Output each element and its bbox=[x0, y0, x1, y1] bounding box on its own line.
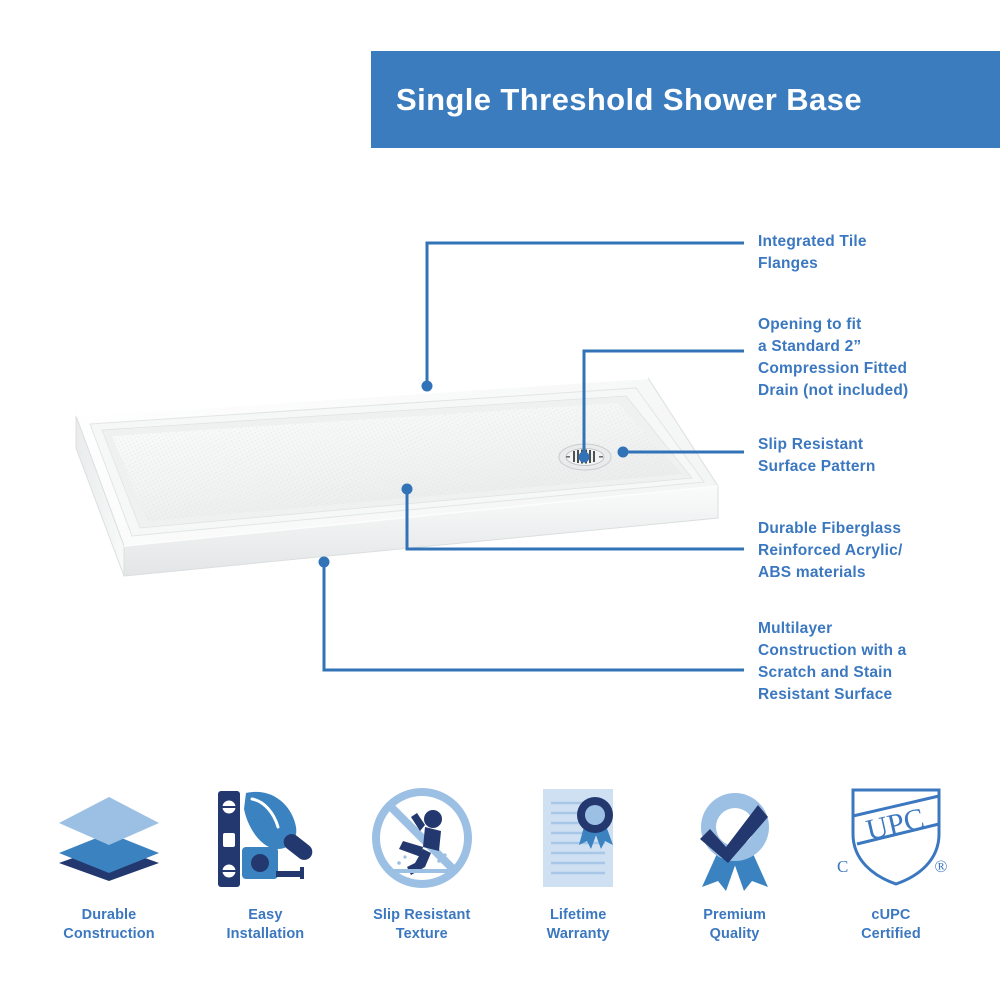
award-ribbon-icon bbox=[676, 778, 794, 898]
callout-dot-drain-opening bbox=[579, 452, 590, 463]
feature-label: Slip ResistantTexture bbox=[373, 906, 470, 944]
infographic-root: Single Threshold Shower Base bbox=[0, 0, 1000, 1000]
feature-lifetime-warranty: LifetimeWarranty bbox=[503, 778, 653, 944]
callout-dot-multilayer-construction bbox=[319, 557, 330, 568]
feature-label: PremiumQuality bbox=[703, 906, 766, 944]
certificate-icon bbox=[519, 778, 637, 898]
feature-label: EasyInstallation bbox=[227, 906, 305, 944]
feature-label: cUPCCertified bbox=[861, 906, 921, 944]
callout-label-integrated-tile-flanges: Integrated TileFlanges bbox=[758, 231, 867, 275]
feature-cupc-certified: UPC C ® cUPCCertified bbox=[816, 778, 966, 944]
callout-line-drain-opening bbox=[584, 351, 744, 457]
callout-line-durable-materials bbox=[407, 489, 744, 549]
callout-label-durable-materials: Durable FiberglassReinforced Acrylic/ABS… bbox=[758, 518, 903, 584]
feature-slip-resistant: Slip ResistantTexture bbox=[347, 778, 497, 944]
callout-label-slip-resistant-surface: Slip ResistantSurface Pattern bbox=[758, 434, 876, 478]
callout-label-drain-opening: Opening to fita Standard 2”Compression F… bbox=[758, 314, 908, 402]
callout-dot-integrated-tile-flanges bbox=[422, 381, 433, 392]
feature-easy-installation: EasyInstallation bbox=[190, 778, 340, 944]
feature-durable-construction: DurableConstruction bbox=[34, 778, 184, 944]
callout-label-multilayer-construction: MultilayerConstruction with aScratch and… bbox=[758, 618, 906, 706]
callout-dot-slip-resistant-surface bbox=[618, 447, 629, 458]
shield-left-mark: C bbox=[837, 857, 848, 876]
feature-label: DurableConstruction bbox=[63, 906, 154, 944]
no-slip-icon bbox=[363, 778, 481, 898]
level-trowel-icon bbox=[206, 778, 324, 898]
feature-row: DurableConstruction bbox=[0, 778, 1000, 978]
layers-icon bbox=[50, 778, 168, 898]
feature-label: LifetimeWarranty bbox=[547, 906, 610, 944]
shield-right-mark: ® bbox=[934, 857, 947, 876]
feature-premium-quality: PremiumQuality bbox=[660, 778, 810, 944]
callout-dot-durable-materials bbox=[402, 484, 413, 495]
upc-shield-icon: UPC C ® bbox=[827, 778, 955, 898]
callout-line-multilayer-construction bbox=[324, 562, 744, 670]
